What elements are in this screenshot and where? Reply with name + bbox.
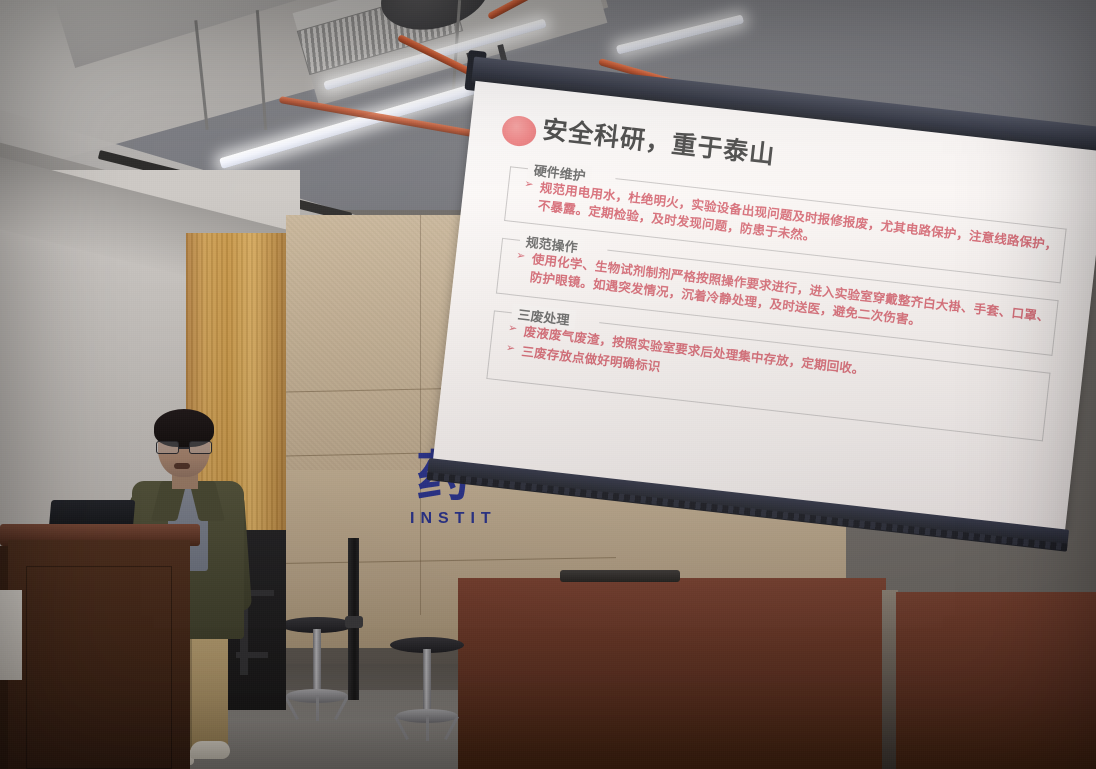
podium	[8, 540, 190, 769]
title-accent-dot-icon	[501, 114, 538, 148]
floor-box	[0, 590, 22, 680]
bullet-arrow-icon: ➢	[523, 177, 534, 194]
lecture-hall-photo: 中 WESTE 药 INSTIT	[0, 0, 1096, 769]
microphone-stand-knob	[345, 616, 363, 628]
glasses-bridge	[179, 447, 189, 449]
presenter-shoe-right	[190, 741, 230, 759]
stool-leg	[426, 715, 429, 741]
stool-leg	[316, 695, 319, 721]
glasses-lens-right	[189, 441, 212, 454]
glasses-lens-left	[156, 441, 179, 454]
stage-desk	[458, 578, 886, 769]
presenter-mouth	[174, 463, 190, 469]
bullet-arrow-icon: ➢	[507, 321, 518, 338]
stool-post	[313, 629, 321, 695]
projection-screen: 安全科研，重于泰山 硬件维护 ➢ 规范用电用水，杜绝明火，实验设备出现问题及时报…	[412, 40, 1096, 630]
slide: 安全科研，重于泰山 硬件维护 ➢ 规范用电用水，杜绝明火，实验设备出现问题及时报…	[433, 81, 1096, 532]
slide-surface: 安全科研，重于泰山 硬件维护 ➢ 规范用电用水，杜绝明火，实验设备出现问题及时报…	[433, 81, 1096, 532]
bullet-arrow-icon: ➢	[515, 249, 526, 266]
stool-post	[423, 649, 431, 715]
bullet-arrow-icon: ➢	[505, 341, 516, 358]
glasses-icon	[156, 441, 212, 454]
